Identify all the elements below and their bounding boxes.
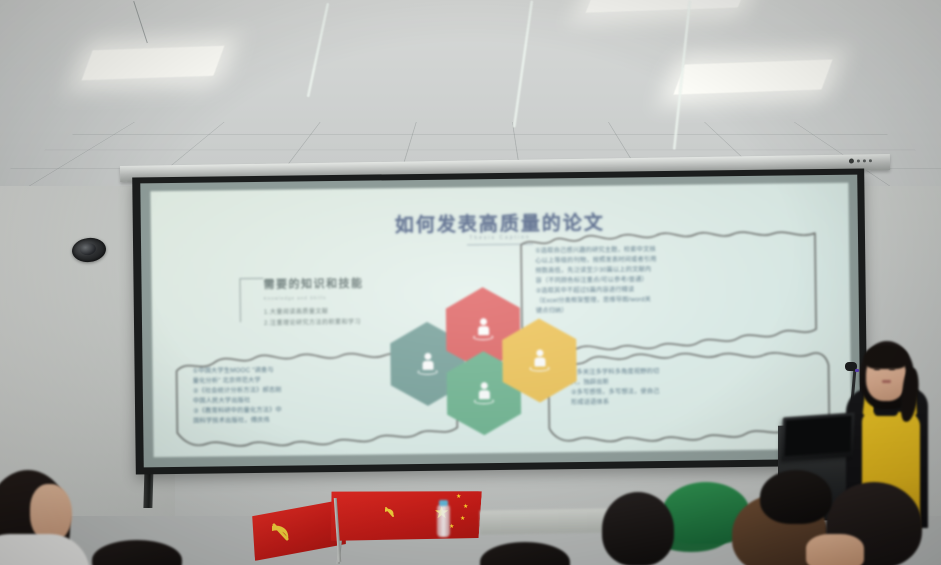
person-icon: [475, 318, 491, 340]
person-icon: [531, 349, 547, 371]
audience-head-dark-3: [760, 470, 832, 524]
light-rail-a: [306, 3, 330, 98]
flag-star-small-2: ★: [463, 504, 468, 510]
national-flag-cloth: [328, 481, 482, 551]
audience-shoulder-left: [0, 534, 90, 565]
audience-hand: [806, 534, 864, 565]
laptop[interactable]: [781, 412, 854, 461]
lecture-hall-scene: 如何发表高质量的论文 Thesis Caption 需要的知识和技能 Knowl…: [0, 0, 941, 565]
person-icon: [476, 382, 492, 404]
audience-head-dark-5: [480, 542, 570, 565]
hammer-sickle-icon-2: [382, 506, 396, 520]
screen-surface: 如何发表高质量的论文 Thesis Caption 需要的知识和技能 Knowl…: [140, 175, 860, 468]
recessed-panel-light-right: [673, 59, 832, 94]
person-icon: [419, 353, 435, 375]
blob-bottom-right-text: ①多关注多学科多角度视野的切 入，独辟出新 ②多写感悟，多写想法，使自己 形成话…: [571, 365, 811, 408]
water-bottle-center: [437, 505, 450, 537]
hexagon-cluster: [390, 286, 592, 418]
recessed-panel-light-left: [82, 46, 225, 81]
prc-national-flag: ★ ★ ★ ★ ★: [330, 486, 490, 562]
audience-head-dark-1: [602, 492, 674, 565]
ceiling-cable: [133, 1, 148, 43]
projection-screen: 如何发表高质量的论文 Thesis Caption 需要的知识和技能 Knowl…: [132, 169, 868, 475]
light-rail-b: [512, 0, 534, 127]
flag-star-small-1: ★: [456, 494, 461, 500]
audience-head-dark-4: [92, 540, 182, 565]
roller-control-buttons[interactable]: [849, 158, 872, 163]
section-rule-horizontal: [239, 278, 263, 279]
microphone-led: [855, 369, 859, 372]
flag-star-small-3: ★: [460, 516, 465, 522]
hammer-sickle-icon: [268, 522, 294, 544]
slide-content: 如何发表高质量的论文 Thesis Caption 需要的知识和技能 Knowl…: [150, 183, 851, 458]
section-rule-vertical: [239, 278, 241, 322]
recessed-panel-light-top: [586, 0, 749, 13]
presenter-fringe: [864, 345, 908, 369]
